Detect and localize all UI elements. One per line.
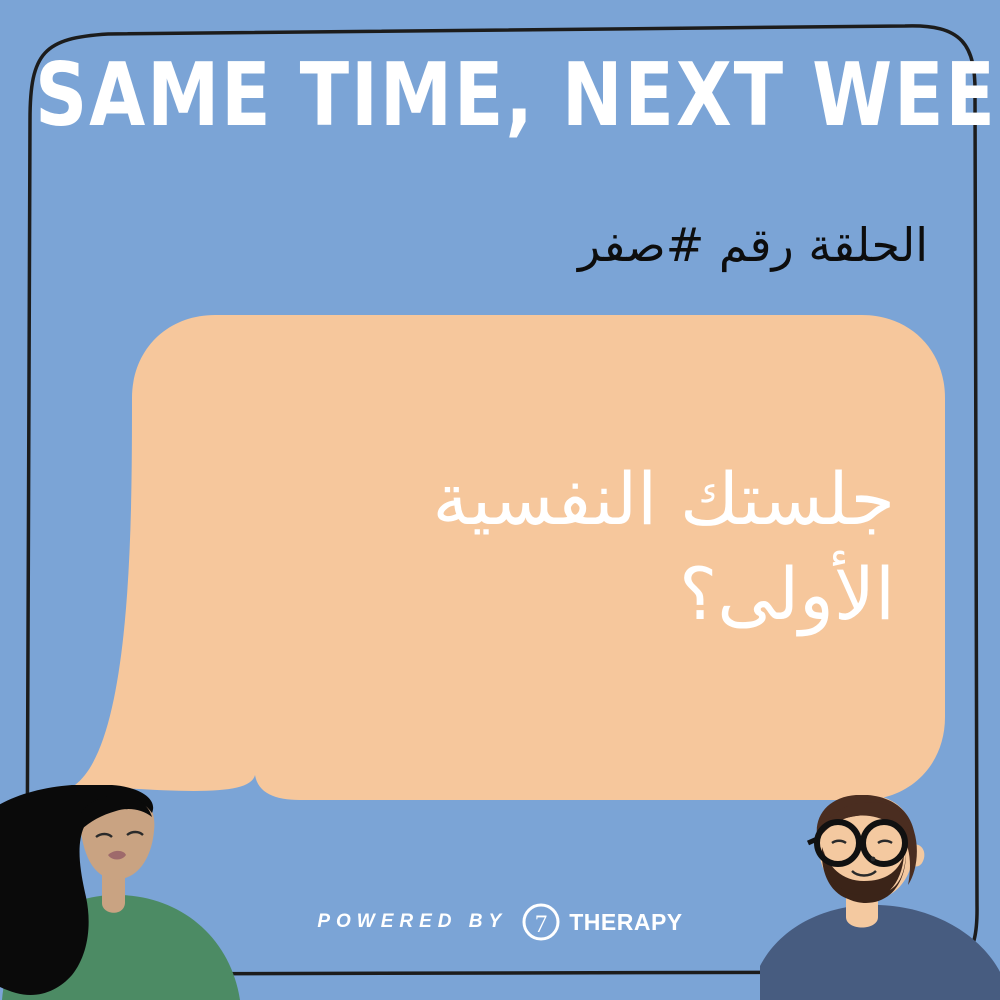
man-illustration (760, 795, 1000, 1000)
logo-number: 7 (535, 911, 548, 938)
powered-by-label: POWERED BY (317, 911, 507, 933)
bubble-text: جلستك النفسية الأولى؟ (195, 452, 895, 642)
episode-label: الحلقة رقم #صفر (578, 218, 928, 272)
seven-circle-icon: 7 (521, 902, 561, 942)
seven-therapy-logo: 7 THERAPY (521, 902, 682, 942)
bubble-text-line-2: الأولى؟ (195, 547, 895, 642)
logo-wordmark: THERAPY (569, 909, 682, 936)
footer-branding: POWERED BY 7 THERAPY (0, 902, 1000, 942)
page-title: SAME TIME, NEXT WEEK (35, 52, 965, 139)
poster-canvas: SAME TIME, NEXT WEEK الحلقة رقم #صفر جلس… (0, 0, 1000, 1000)
bubble-text-line-1: جلستك النفسية (195, 452, 895, 547)
woman-illustration (0, 785, 262, 1000)
man-mole (871, 857, 876, 862)
